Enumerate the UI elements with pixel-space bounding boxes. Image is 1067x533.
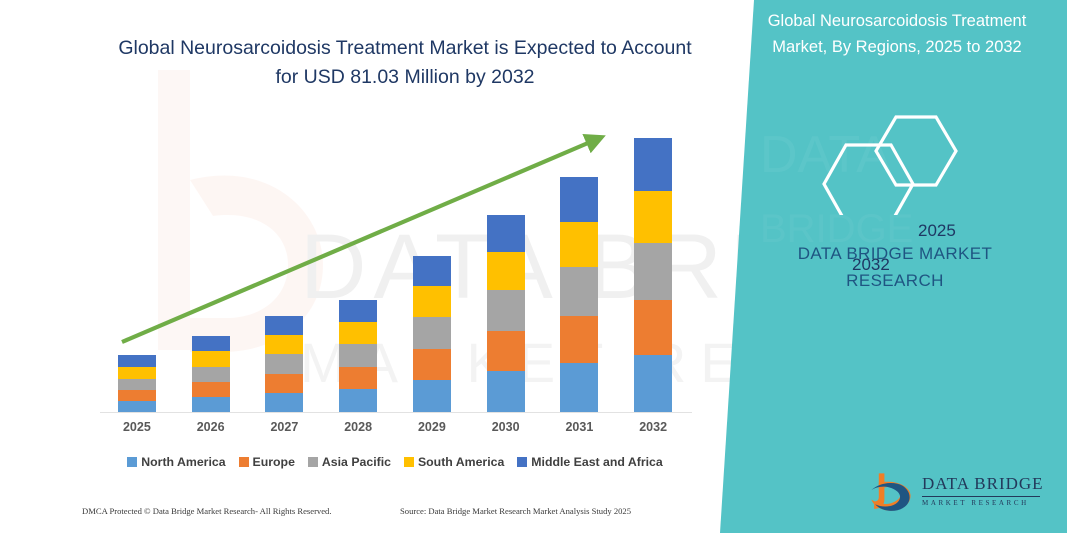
stacked-bar (118, 355, 156, 412)
bar-segment (560, 363, 598, 412)
hexagon-2032 (824, 145, 913, 215)
bar-segment (487, 215, 525, 252)
bar-segment (634, 355, 672, 412)
bar-column (544, 110, 614, 412)
bar-segment (487, 371, 525, 412)
bar-segment (265, 393, 303, 413)
bar-segment (413, 256, 451, 286)
bar-segment (634, 300, 672, 355)
hexagon-label-2025: 2025 (918, 221, 956, 241)
bar-segment (192, 397, 230, 412)
legend-swatch (127, 457, 137, 467)
stacked-bar-series (100, 110, 690, 412)
legend-label: North America (141, 455, 225, 469)
brand-logo-text: DATA BRIDGE MARKET RESEARCH (922, 474, 1044, 507)
stacked-bar (192, 336, 230, 412)
bar-segment (560, 267, 598, 316)
bar-segment (634, 138, 672, 191)
bar-column (176, 110, 246, 412)
bar-segment (118, 379, 156, 390)
bar-column (249, 110, 319, 412)
bar-segment (192, 367, 230, 382)
footer-source: Source: Data Bridge Market Research Mark… (400, 506, 631, 516)
bar-segment (192, 351, 230, 367)
right-panel: DATA BRIDGE Global Neurosarcoidosis Trea… (720, 0, 1067, 533)
brand-logo-tagline: MARKET RESEARCH (922, 499, 1044, 507)
bar-column (397, 110, 467, 412)
bar-segment (487, 331, 525, 371)
bar-column (102, 110, 172, 412)
x-axis-tick-label: 2025 (102, 420, 172, 434)
hexagon-shapes (818, 95, 1048, 215)
bar-segment (192, 336, 230, 351)
bar-segment (413, 380, 451, 412)
bar-segment (560, 222, 598, 267)
chart-title: Global Neurosarcoidosis Treatment Market… (110, 34, 700, 92)
bar-segment (265, 316, 303, 335)
bar-segment (118, 355, 156, 367)
brand-mark-icon (862, 470, 918, 516)
legend-swatch (517, 457, 527, 467)
stacked-bar (487, 215, 525, 412)
hexagon-group: 2032 2025 (818, 95, 1048, 215)
bar-column (618, 110, 688, 412)
infographic-canvas: DATA BRIDGE MARKET RESEARCH Global Neuro… (0, 0, 1067, 533)
legend-label: Europe (253, 455, 295, 469)
bar-segment (265, 335, 303, 354)
hexagon-2025 (876, 117, 956, 185)
bar-segment (118, 390, 156, 402)
bar-segment (339, 367, 377, 390)
stacked-bar (413, 256, 451, 412)
legend-item[interactable]: South America (404, 455, 504, 469)
legend-swatch (239, 457, 249, 467)
legend-swatch (308, 457, 318, 467)
bar-column (471, 110, 541, 412)
legend-item[interactable]: Asia Pacific (308, 455, 391, 469)
x-axis-tick-label: 2028 (323, 420, 393, 434)
panel-title: Global Neurosarcoidosis Treatment Market… (742, 8, 1052, 60)
panel-subtitle: DATA BRIDGE MARKET RESEARCH (760, 240, 1030, 294)
bar-segment (487, 252, 525, 290)
legend-label: South America (418, 455, 504, 469)
x-axis-line (100, 412, 692, 413)
bar-segment (413, 317, 451, 349)
brand-logo-name: DATA BRIDGE (922, 474, 1044, 494)
stacked-bar (634, 138, 672, 412)
brand-logo: DATA BRIDGE MARKET RESEARCH (862, 470, 1047, 518)
bar-segment (265, 374, 303, 393)
x-axis-tick-label: 2027 (249, 420, 319, 434)
bar-segment (634, 191, 672, 243)
bar-segment (339, 322, 377, 344)
x-axis-tick-label: 2026 (176, 420, 246, 434)
brand-logo-divider (922, 496, 1040, 497)
x-axis-tick-label: 2030 (471, 420, 541, 434)
bar-segment (487, 290, 525, 331)
footer-copyright: DMCA Protected © Data Bridge Market Rese… (82, 506, 332, 516)
legend-item[interactable]: North America (127, 455, 225, 469)
bar-segment (634, 243, 672, 300)
stacked-bar (265, 316, 303, 412)
bar-segment (413, 286, 451, 317)
bar-segment (560, 316, 598, 364)
stacked-bar (339, 300, 377, 412)
bar-column (323, 110, 393, 412)
bar-segment (265, 354, 303, 374)
bar-segment (413, 349, 451, 381)
stacked-bar (560, 177, 598, 412)
legend-label: Asia Pacific (322, 455, 391, 469)
legend-swatch (404, 457, 414, 467)
bar-segment (339, 344, 377, 367)
bar-segment (560, 177, 598, 222)
legend-label: Middle East and Africa (531, 455, 662, 469)
legend-item[interactable]: Middle East and Africa (517, 455, 662, 469)
x-axis-tick-label: 2031 (544, 420, 614, 434)
bar-segment (192, 382, 230, 398)
bar-segment (118, 401, 156, 412)
x-axis-tick-label: 2032 (618, 420, 688, 434)
bar-segment (339, 389, 377, 412)
bar-segment (118, 367, 156, 379)
legend-item[interactable]: Europe (239, 455, 295, 469)
x-axis-tick-label: 2029 (397, 420, 467, 434)
bar-segment (339, 300, 377, 322)
chart-legend: North AmericaEuropeAsia PacificSouth Ame… (100, 455, 690, 469)
x-axis-labels: 20252026202720282029203020312032 (100, 420, 690, 434)
